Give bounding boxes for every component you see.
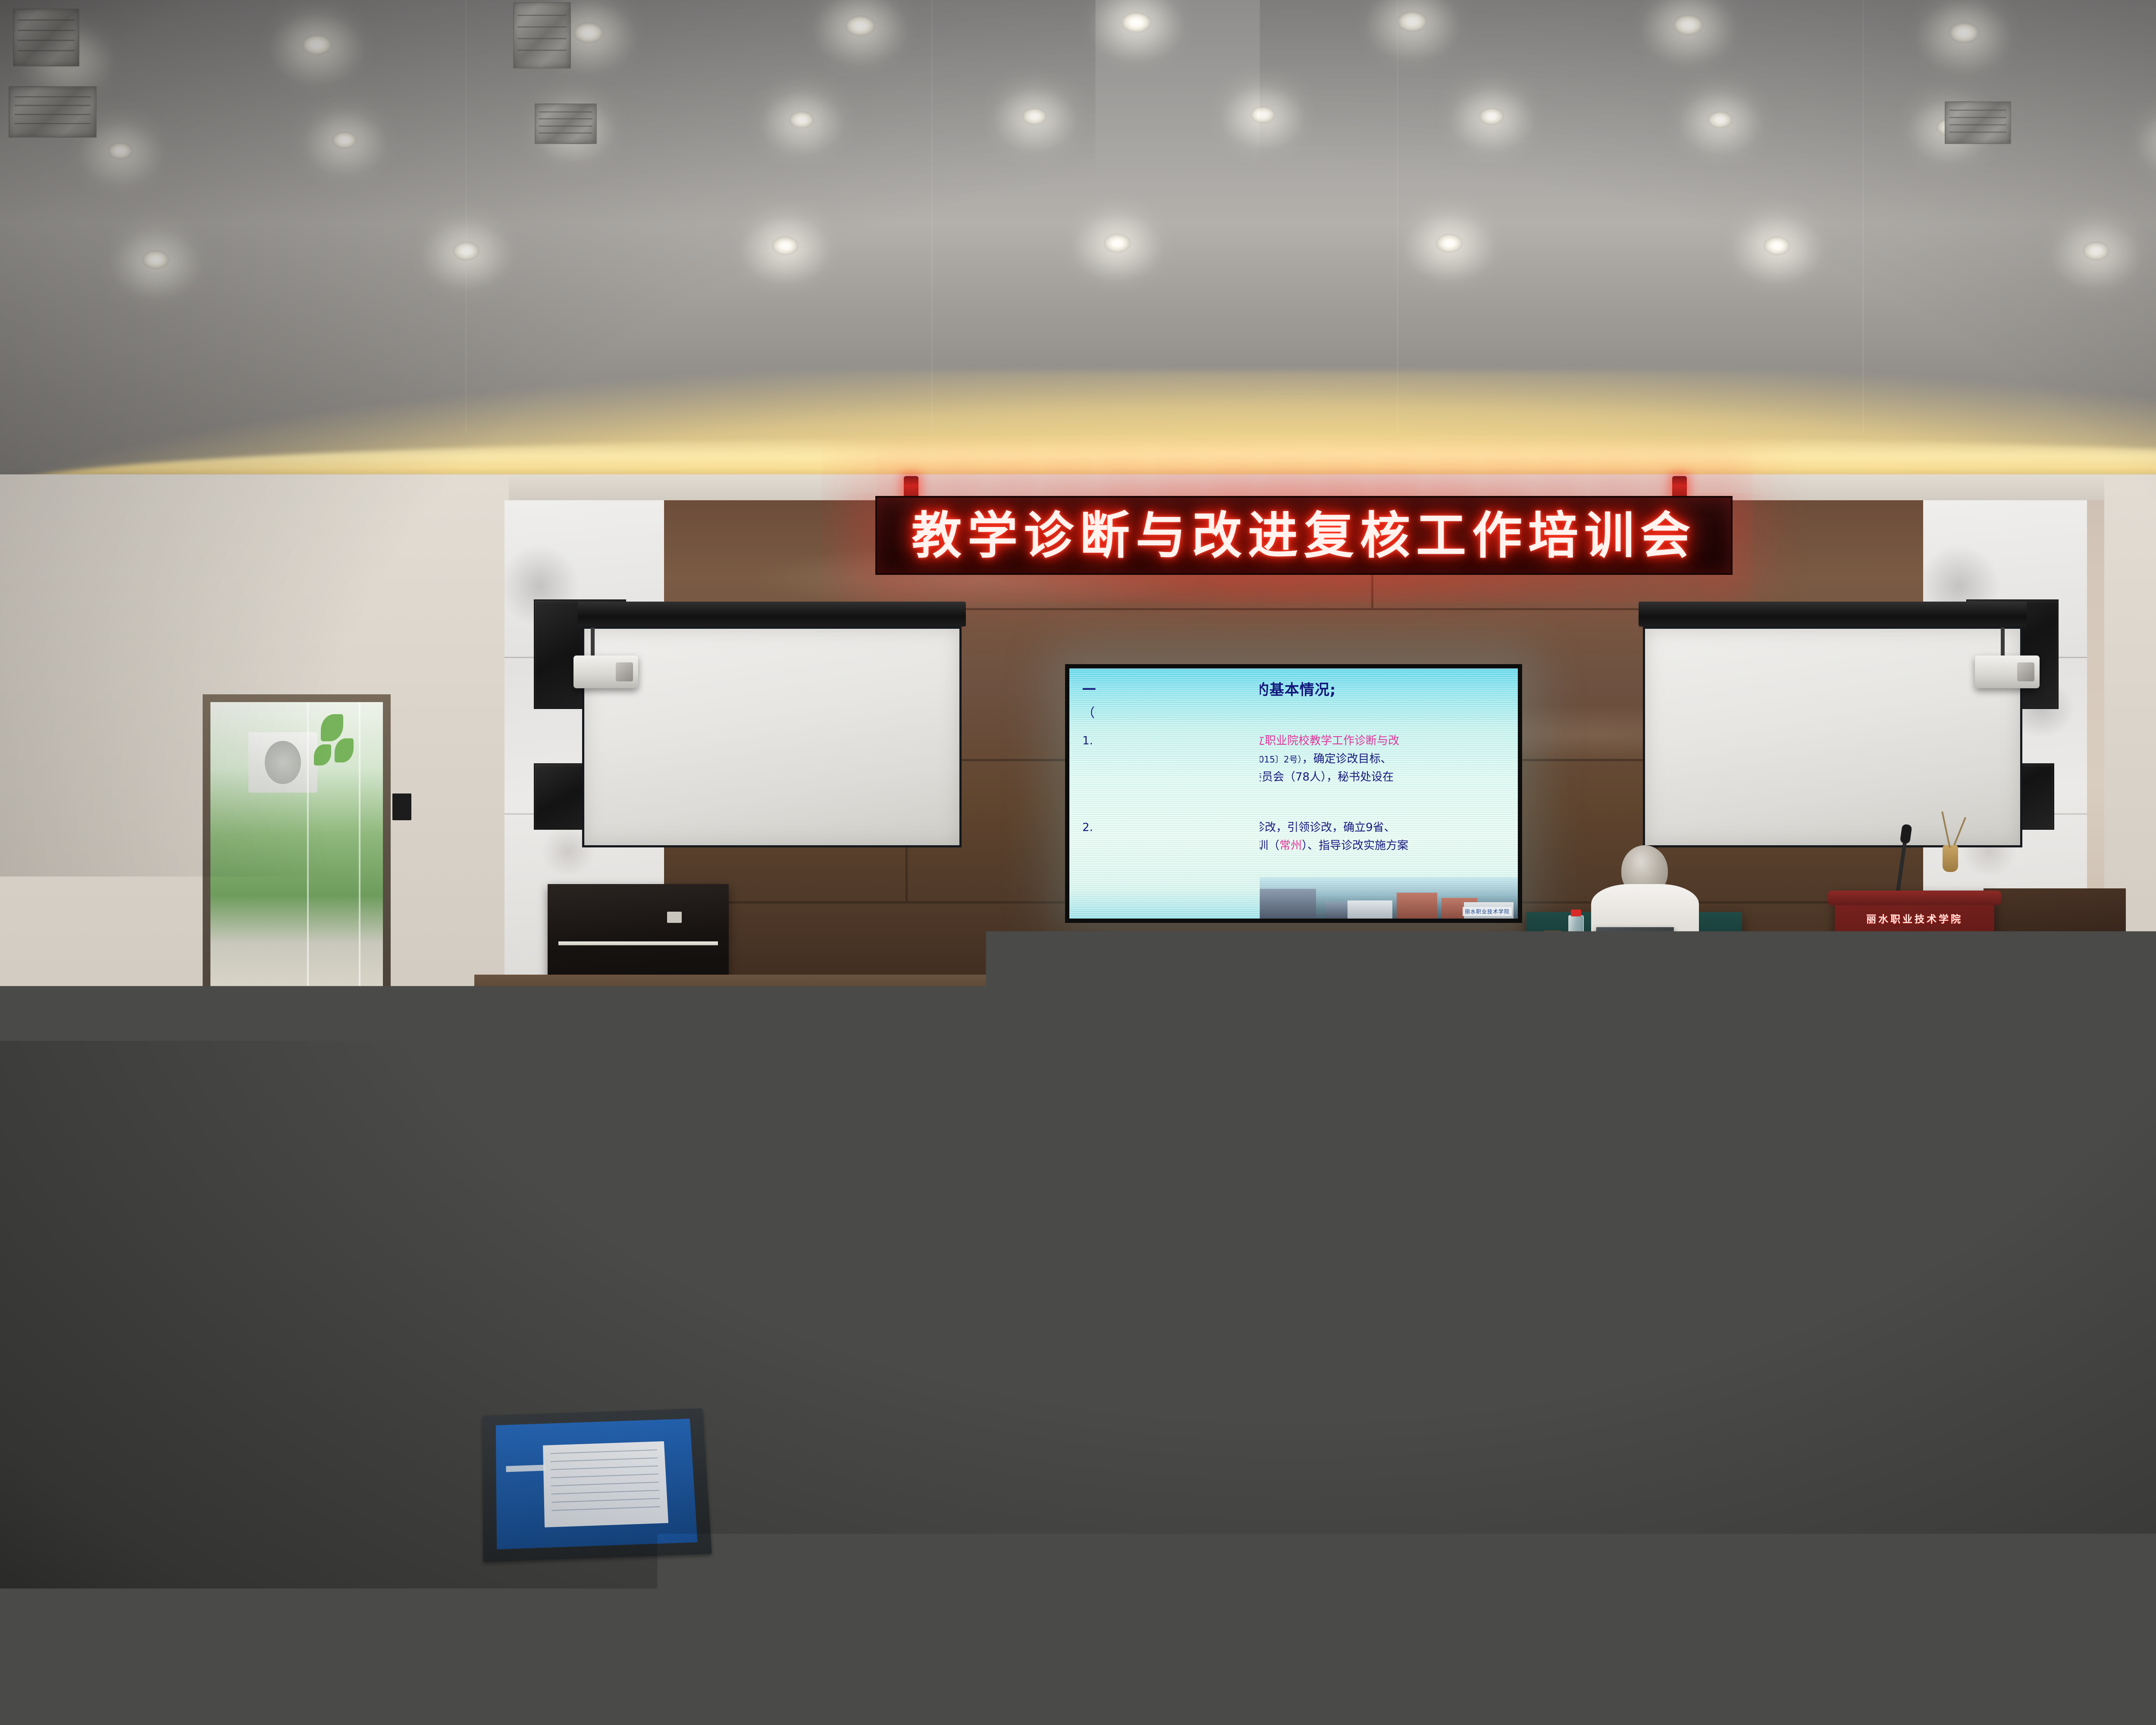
audience-hair-r4-4 — [404, 1248, 435, 1292]
audience-head-r6-13 — [1755, 1361, 1792, 1403]
projector-screen-left — [578, 602, 966, 847]
audience-hair-r4-10 — [1023, 1248, 1054, 1292]
ceiling-vent-0 — [13, 9, 79, 66]
lecture-hall-photo: 教学诊断与改进复核工作培训会 一.全国高职诊改试点院校的基本情况; （一）过程：… — [0, 0, 2156, 1725]
audience-hair-r0-22 — [1610, 1104, 1627, 1129]
projector-left — [573, 655, 638, 688]
audience-collar-r0-15 — [1108, 1109, 1121, 1113]
audience-hair-r3-3 — [262, 1201, 288, 1238]
notebook-r7-0 — [0, 1505, 20, 1521]
audience-hair-r8-8 — [1666, 1585, 1737, 1683]
audience-hair-r0-13 — [955, 1104, 973, 1129]
audience-head-r4-2 — [183, 1236, 209, 1266]
notebook-r4-0 — [0, 1271, 13, 1280]
audience-hair-r4-20 — [2064, 1248, 2095, 1292]
audience-collar-r1-19 — [1486, 1135, 1501, 1139]
audience-hair-r0-12 — [891, 1104, 909, 1129]
presenter-name-placard: 汪建云 — [1698, 942, 1752, 970]
projector-screen-right — [1639, 602, 2027, 847]
slide-subheading: （一）过程： — [1082, 703, 1507, 721]
audience-hair-r4-19 — [1952, 1248, 1984, 1292]
audience-hair-r3-22 — [2046, 1201, 2073, 1238]
audience-head-r4-15 — [1534, 1236, 1559, 1266]
audience-head-r0-24 — [1751, 1098, 1765, 1114]
audience-head-r5-9 — [1045, 1292, 1075, 1327]
desk-leg-5-1 — [1541, 1366, 1552, 1426]
audience-head-r0-4 — [313, 1098, 328, 1114]
led-floor-reflection-text: 教学诊断与改进复核 — [1147, 1341, 1475, 1383]
audience-hair-r1-11 — [871, 1129, 891, 1157]
audience-hair-r5-15 — [1746, 1307, 1783, 1358]
audience-collar-r2-23 — [1954, 1167, 1971, 1172]
audience-hair-r4-17 — [1754, 1248, 1786, 1292]
audience-hair-r3-5 — [461, 1201, 488, 1238]
audience-head-r3-20 — [1850, 1190, 1871, 1216]
audience-hair-r4-9 — [911, 1248, 943, 1292]
desk-leg-7-0 — [975, 1554, 988, 1643]
audience-hair-r7-10 — [1637, 1469, 1693, 1546]
audience-hair-r6-12 — [1603, 1379, 1648, 1441]
ceiling-vent-5 — [535, 103, 597, 144]
desk-leg-6-1 — [1574, 1451, 1586, 1523]
audience-collar-r8-2 — [403, 1604, 456, 1618]
placard-business-text: 商学院 — [1526, 1204, 1557, 1215]
audience-head-r7-11 — [1784, 1447, 1830, 1500]
audience-collar-r5-5 — [566, 1317, 594, 1324]
placard-admissions: 招生处 — [1034, 1179, 1106, 1214]
audience-hair-r0-23 — [1674, 1104, 1692, 1129]
audience-hair-r4-16 — [1642, 1248, 1674, 1292]
audience-hair-r1-21 — [1647, 1129, 1667, 1157]
audience-hair-r0-19 — [1395, 1104, 1413, 1129]
audience-hair-r4-7 — [713, 1248, 745, 1292]
audience-hair-r3-23 — [2125, 1201, 2151, 1238]
audience-head-r4-8 — [802, 1236, 828, 1266]
audience-hair-r3-6 — [539, 1201, 566, 1238]
audience-laptop-screen — [687, 1311, 728, 1337]
slide-item-2-line2a: 市27所院校开展试点，集中培训（ — [1108, 839, 1279, 852]
floor-light-reflection-3 — [1274, 1540, 1299, 1564]
downlight-back-4 — [1022, 108, 1047, 125]
audience-collar-r0-20 — [1462, 1109, 1475, 1113]
slide-item-1-line-4: 常州工程职业技术学院； — [1082, 788, 1507, 803]
water-bottle-r4-20 — [2081, 1253, 2090, 1277]
slide-item-1-line-2: 进制度的通知）（教职成厅〔2015〕2号），确定诊改目标、 — [1082, 752, 1507, 767]
audience-hair-r2-24 — [2022, 1161, 2045, 1193]
audience-hair-r0-6 — [462, 1104, 480, 1129]
podium-top — [1828, 891, 2001, 905]
audience-collar-r5-15 — [1751, 1317, 1779, 1324]
audience-hair-r1-6 — [476, 1129, 496, 1157]
audience-hair-r0-25 — [1824, 1104, 1842, 1129]
placard-admissions-text: 招生处 — [1052, 1201, 1086, 1214]
audience-head-r2-0 — [10, 1152, 29, 1174]
audience-hair-r1-7 — [558, 1129, 578, 1157]
audience-head-r0-27 — [1965, 1098, 1980, 1114]
audience-hair-r2-5 — [422, 1161, 445, 1193]
downlight-front-7 — [1949, 22, 1979, 43]
ceiling-vent-3 — [9, 86, 97, 138]
downlight-back-7 — [1708, 111, 1733, 129]
downlight-near-4 — [1436, 234, 1463, 253]
downlight-front-3 — [845, 16, 875, 36]
water-bottle-r3-8 — [753, 1205, 760, 1226]
audience-head-r2-20 — [1701, 1152, 1720, 1174]
audience-hair-r3-12 — [1115, 1201, 1142, 1238]
audience-hair-r3-2 — [184, 1201, 210, 1238]
audience-head-r1-15 — [1172, 1121, 1188, 1140]
audience-laptop-screen — [1970, 1311, 2011, 1337]
downlight-back-0 — [108, 142, 133, 160]
audience-head-r0-11 — [818, 1098, 832, 1114]
audience-collar-r0-5 — [389, 1109, 402, 1113]
audience-hair-r8-1 — [169, 1585, 240, 1683]
ceiling-seam-2 — [1397, 0, 1398, 431]
audience-head-r4-18 — [1843, 1236, 1869, 1266]
downlight-back-5 — [1250, 106, 1275, 123]
slide-campus-label: 丽水职业技术学院 — [1463, 907, 1512, 916]
slide-item-2-line-2: 市27所院校开展试点，集中培训（常州）、指导诊改实施方案 — [1082, 839, 1507, 853]
audience-head-r2-10 — [856, 1152, 874, 1174]
audience-head-r5-16 — [1877, 1292, 1907, 1327]
audience-head-r2-19 — [1611, 1152, 1630, 1174]
audience-hair-r6-2 — [253, 1379, 298, 1441]
audience-head-r1-8 — [642, 1121, 658, 1140]
downlight-near-3 — [1104, 234, 1131, 253]
presenter-laptop[interactable] — [1595, 927, 1674, 961]
screen-cloth-right — [1643, 627, 2022, 847]
audience-head-r1-25 — [1948, 1121, 1964, 1140]
audience-head-r0-21 — [1536, 1098, 1551, 1114]
slide-item-1-pink2: 进制度的通知） — [1127, 753, 1206, 765]
downlight-back-6 — [1479, 108, 1504, 125]
notebook-r4-6 — [606, 1271, 632, 1280]
led-banner-text: 教学诊断与改进复核工作培训会 — [912, 511, 1696, 561]
audience-hair-r2-11 — [925, 1161, 948, 1193]
slide-item-1-line-3: 原则，成立全国诊改专家委员会（78人），秘书处设在 — [1082, 770, 1507, 785]
glass-door[interactable] — [203, 694, 391, 1012]
audience-head-r4-5 — [493, 1236, 518, 1266]
audience-hair-r7-2 — [285, 1469, 342, 1546]
audience-collar-r1-4 — [329, 1135, 344, 1139]
notebook-r7-6 — [968, 1505, 1015, 1521]
slide-item-1-pink: 教育部办公厅关于建立职业院校教学工作诊断与改 — [1153, 734, 1399, 747]
audience-hair-r1-23 — [1797, 1129, 1817, 1157]
podium: 丽水职业技术学院 — [1835, 891, 1994, 1005]
projector-right — [1975, 655, 2040, 688]
audience-head-r0-8 — [603, 1098, 617, 1114]
audience-head-r1-18 — [1418, 1121, 1434, 1140]
screen-case-left — [578, 602, 966, 627]
ceiling-vent-1 — [513, 2, 571, 69]
audience-hair-r2-1 — [80, 1161, 103, 1193]
downlight-near-5 — [1764, 236, 1790, 255]
audience-collar-r4-1 — [98, 1257, 121, 1263]
slide-item-2-line-3: 编制； — [1082, 857, 1507, 872]
audience-head-r1-5 — [411, 1121, 427, 1140]
tea-cup — [1543, 931, 1562, 952]
slide-item-2-pink: 研究 — [1119, 821, 1141, 834]
audience-head-r3-4 — [364, 1190, 385, 1216]
audience-hair-r3-18 — [1670, 1201, 1696, 1238]
audience-head-r3-10 — [918, 1190, 940, 1216]
audience-hair-r3-16 — [1470, 1201, 1497, 1238]
audience-collar-r3-17 — [1573, 1208, 1593, 1214]
presenter-water-bottle — [1568, 915, 1584, 957]
slide-item-1-rest: ，确定诊改目标、 — [1302, 753, 1392, 765]
screen-cloth-left — [582, 627, 962, 847]
presentation-slide: 一.全国高职诊改试点院校的基本情况; （一）过程： 1. 出台文件：教育部办公厅… — [1065, 664, 1522, 923]
audience-hair-r0-10 — [741, 1104, 758, 1129]
audience-hair-r3-19 — [1747, 1201, 1774, 1238]
placard-aviation-text: 航空学院 — [1494, 1168, 1534, 1180]
audience-head-r1-12 — [941, 1121, 957, 1140]
audience-collar-r0-25 — [1827, 1109, 1839, 1113]
ceiling-seam-0 — [466, 0, 467, 431]
side-table — [1984, 888, 2126, 996]
slide-item-2-line2b: ）、指导诊改实施方案 — [1302, 839, 1408, 852]
audience-hair-r5-7 — [787, 1307, 824, 1358]
projector-mount-right — [2001, 627, 2005, 658]
projector-mount-left — [591, 627, 595, 658]
notebook-r5-18 — [2104, 1333, 2135, 1343]
audience-hair-r1-24 — [1879, 1129, 1899, 1157]
downlight-front-4 — [1121, 12, 1151, 33]
notebook-r6-6 — [787, 1411, 824, 1424]
school-emblem — [1896, 966, 1933, 1003]
slide-item-2-line-1: 2. 理论研究、出台一批文章，解读诊改，引领诊改，确立9省、 — [1082, 821, 1507, 835]
audience-hair-r6-6 — [780, 1379, 825, 1441]
notebook-r8-0 — [0, 1628, 13, 1647]
screen-case-right — [1639, 602, 2027, 627]
audience-hair-r5-8 — [914, 1307, 952, 1358]
slide-item-1-lead: 1. 出台文件： — [1082, 734, 1153, 747]
audience-head-r2-6 — [514, 1152, 533, 1174]
audience-head-r7-1 — [113, 1447, 158, 1500]
audience-head-r3-21 — [1949, 1190, 1971, 1216]
downlight-near-2 — [772, 236, 799, 255]
audience-collar-r3-2 — [187, 1208, 207, 1214]
audience-head-r5-2 — [213, 1292, 243, 1327]
desk-leg-8-0 — [941, 1690, 955, 1725]
audience-hair-r5-0 — [0, 1307, 21, 1358]
slide-item-2-mid: 、出台一批文章，解读诊改，引领诊改，确立9省、 — [1141, 821, 1395, 834]
audience-hair-r8-3 — [580, 1585, 651, 1683]
water-bottle-r5-4 — [456, 1312, 465, 1340]
audience-head-r0-14 — [1032, 1098, 1046, 1114]
downlight-near-6 — [2083, 241, 2109, 260]
file-explorer-window — [543, 1441, 668, 1527]
audience-hair-r1-20 — [1565, 1129, 1585, 1157]
audience-collar-r1-9 — [710, 1135, 725, 1139]
audience-hair-r0-9 — [677, 1104, 694, 1129]
notebook-r6-12 — [1609, 1411, 1647, 1424]
audience-hair-r0-5 — [387, 1104, 404, 1129]
placard-aviation: 航空学院 — [1480, 1148, 1548, 1181]
audience-hair-r4-0 — [0, 1248, 13, 1292]
audience-hair-r2-8 — [674, 1161, 696, 1193]
audience-head-r1-22 — [1717, 1121, 1733, 1140]
slide-item-1-line-1: 1. 出台文件：教育部办公厅关于建立职业院校教学工作诊断与改 — [1082, 734, 1507, 749]
audience-torso-r6-0 — [0, 1387, 23, 1452]
audience-hair-r3-8 — [738, 1201, 765, 1238]
audience-head-r2-9 — [766, 1152, 784, 1174]
audience-hair-r6-15 — [2047, 1379, 2092, 1441]
audience-collar-r4-16 — [1646, 1257, 1670, 1263]
ceiling-vent-6 — [1945, 101, 2011, 144]
downlight-front-5 — [1397, 11, 1427, 32]
notebook-r5-0 — [0, 1333, 20, 1343]
audience-hair-r8-4 — [805, 1585, 876, 1683]
audience-hair-r5-5 — [561, 1307, 599, 1358]
audience-laptop-r5-17[interactable] — [1967, 1309, 2014, 1339]
water-bottle-r3-1 — [99, 1205, 106, 1226]
laptop-screen — [496, 1418, 697, 1549]
audience-hair-r2-25 — [2112, 1161, 2135, 1193]
podium-calligraphy: 丽水职业技术学院 — [1848, 910, 1982, 926]
floor-light-reflection-1 — [1279, 1404, 1296, 1415]
desk-leg-5-0 — [1044, 1366, 1055, 1426]
audience-hair-r3-9 — [838, 1201, 865, 1238]
audience-hair-r6-1 — [105, 1379, 150, 1441]
audience-head-r5-3 — [340, 1292, 370, 1327]
slide-item-1-note: （教职成厅〔2015〕2号） — [1206, 754, 1302, 765]
floor-light-reflection-4 — [1272, 1643, 1300, 1660]
audience-hair-r5-14 — [1619, 1307, 1657, 1358]
audience-collar-r2-3 — [263, 1167, 280, 1172]
audience-head-r6-3 — [373, 1361, 410, 1403]
audience-hair-r4-3 — [292, 1248, 323, 1292]
audience-collar-r2-13 — [1108, 1167, 1125, 1172]
downlight-near-0 — [142, 250, 169, 269]
slide-item-2-line2-pink: 常州 — [1279, 839, 1302, 852]
flower-vase — [1943, 845, 1958, 872]
audience-head-r8-9 — [1898, 1557, 1955, 1624]
audience-hair-r5-1 — [82, 1307, 119, 1358]
audience-head-r1-2 — [165, 1121, 181, 1140]
door-glass-view — [210, 702, 383, 1004]
audience-laptop-r5-6[interactable] — [684, 1309, 730, 1339]
audience-hair-r2-4 — [332, 1161, 355, 1193]
presenter-name-text: 汪建云 — [1710, 949, 1739, 963]
audience-head-r7-5 — [789, 1447, 834, 1500]
audience-hair-r5-18 — [2099, 1307, 2136, 1358]
audience-collar-r2-8 — [677, 1167, 693, 1172]
audience-hair-r2-22 — [1861, 1161, 1883, 1193]
water-bottle-r6-2 — [279, 1385, 290, 1419]
audience-collar-r0-10 — [743, 1109, 756, 1113]
notebook-r4-18 — [1845, 1271, 1871, 1280]
audience-hair-r0-20 — [1459, 1104, 1477, 1129]
audience-hair-r5-4 — [434, 1307, 472, 1358]
slide-item-2-lead: 2. 理论 — [1082, 821, 1119, 834]
audience-head-r6-7 — [933, 1361, 969, 1403]
slide-heading: 一.全国高职诊改试点院校的基本情况; — [1082, 678, 1507, 699]
audience-hair-r2-7 — [602, 1161, 625, 1193]
computer-mouse[interactable] — [737, 1619, 793, 1653]
audience-head-r0-1 — [99, 1098, 113, 1114]
ceiling-seam-1 — [931, 0, 932, 431]
audience-collar-r3-12 — [1119, 1208, 1138, 1214]
audience-collar-r3-7 — [642, 1208, 662, 1214]
audience-hair-r2-17 — [1429, 1161, 1452, 1193]
audience-torso-r4-21 — [2136, 1255, 2156, 1299]
audience-hair-r2-12 — [1015, 1161, 1038, 1193]
slide-campus-photo — [1069, 877, 1518, 919]
audience-hair-r2-21 — [1771, 1161, 1794, 1193]
audience-collar-r0-0 — [24, 1109, 37, 1113]
desk-leg-7-1 — [1608, 1554, 1621, 1643]
ceiling-seam-3 — [1863, 0, 1864, 431]
downlight-back-3 — [789, 111, 814, 129]
notebook-r7-12 — [1964, 1505, 2011, 1521]
placard-business: 商学院 — [1508, 1184, 1576, 1216]
audience-hair-r2-2 — [170, 1161, 193, 1193]
wall-switch — [392, 793, 411, 820]
audience-collar-r1-24 — [1881, 1135, 1896, 1139]
audience-collar-r6-14 — [1905, 1391, 1939, 1400]
audience-head-r0-7 — [528, 1098, 542, 1114]
desktop-taskbar-stub — [506, 1465, 545, 1472]
foreground-laptop[interactable] — [483, 1408, 712, 1562]
floor-reflection-glyphs: 教学诊断与改进复核 — [1163, 1341, 1458, 1383]
floor-light-reflection-2 — [1276, 1425, 1297, 1448]
audience-hair-r1-10 — [790, 1129, 809, 1157]
audience-hair-r4-6 — [602, 1248, 633, 1292]
audience-collar-r6-4 — [523, 1391, 556, 1400]
audience-hair-r1-3 — [245, 1129, 265, 1157]
audience-hair-r1-1 — [96, 1129, 116, 1157]
downlight-back-1 — [332, 132, 357, 149]
downlight-front-1 — [302, 34, 332, 55]
audience-collar-r1-14 — [1105, 1135, 1120, 1139]
audience-head-r0-28 — [2040, 1098, 2055, 1114]
led-banner: 教学诊断与改进复核工作培训会 — [875, 496, 1733, 575]
downlight-front-6 — [1673, 15, 1703, 35]
downlight-front-2 — [573, 22, 604, 43]
water-bottle-r3-22 — [2062, 1205, 2068, 1226]
